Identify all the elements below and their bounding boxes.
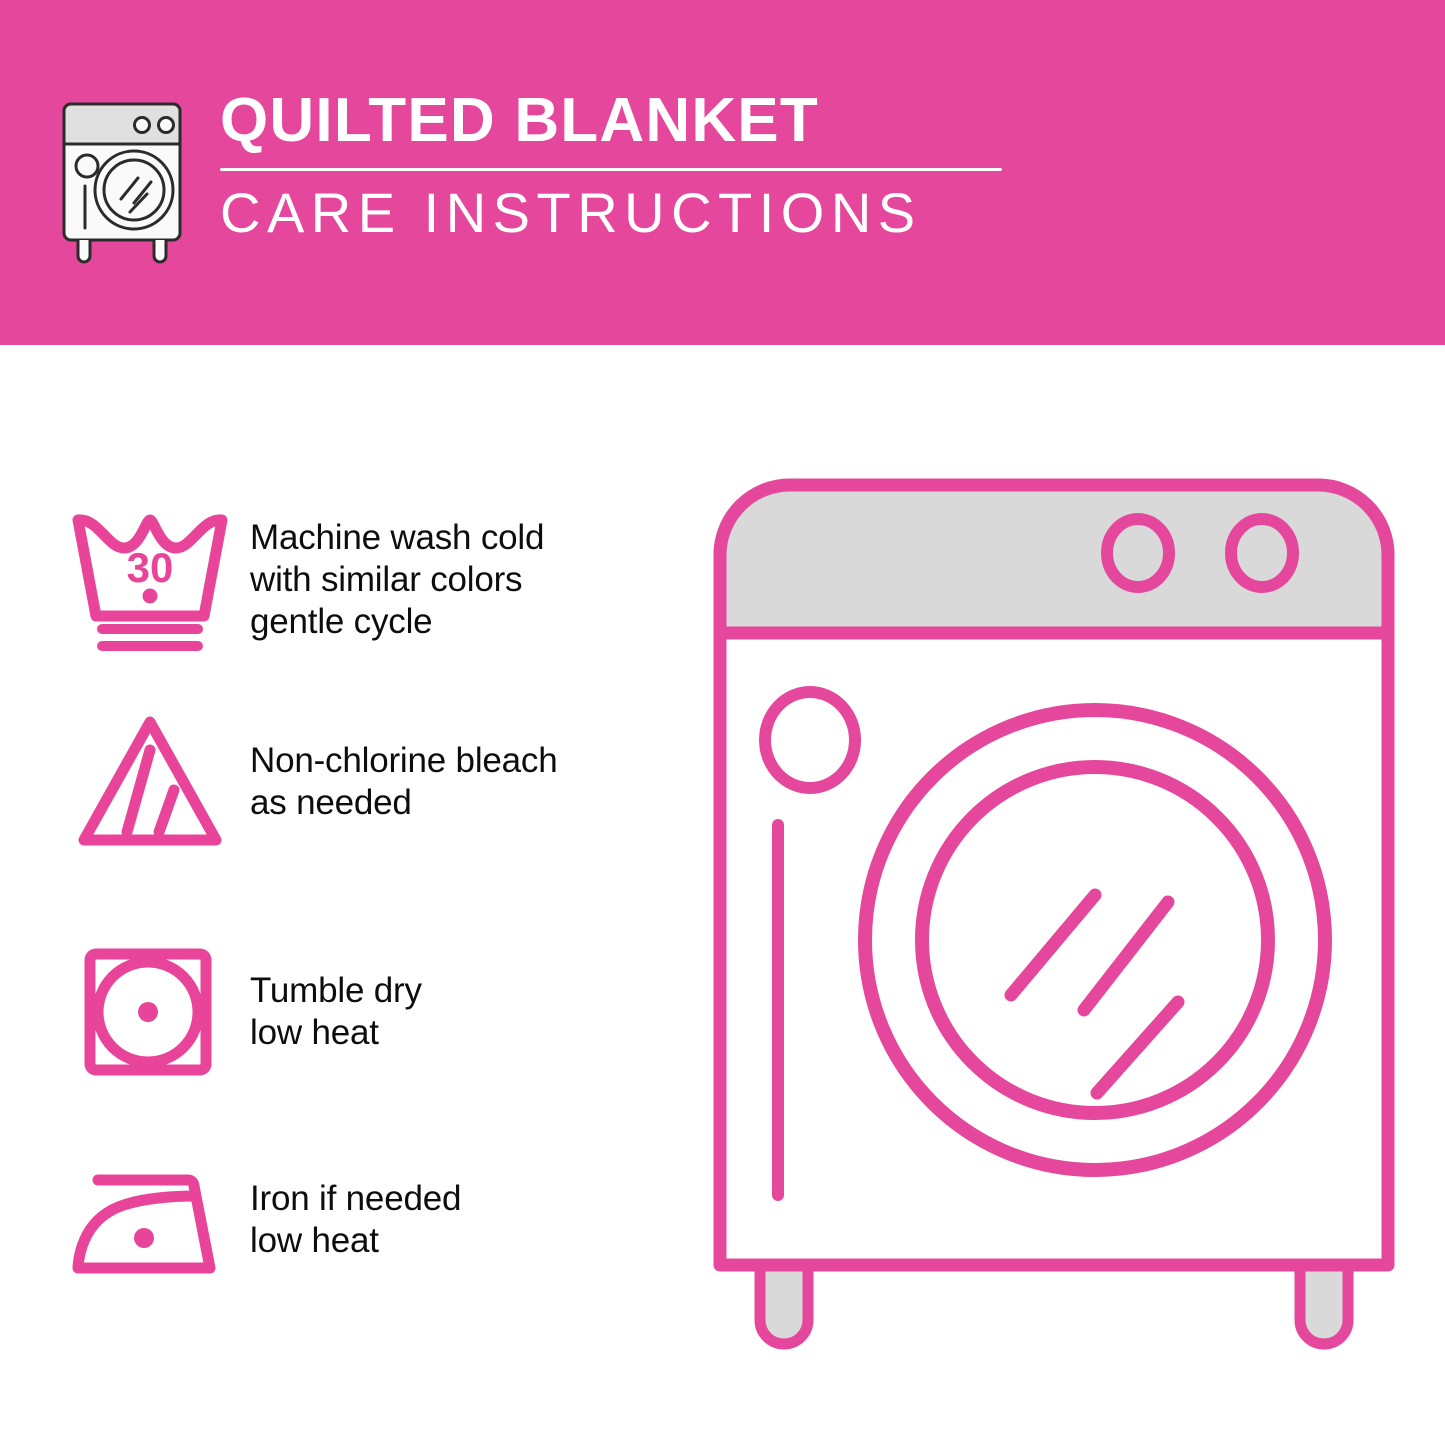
care-item-machine-wash: 30 Machine wash cold with similar colors… [60, 495, 680, 665]
care-line: with similar colors [250, 559, 680, 601]
header-title-block: QUILTED BLANKET CARE INSTRUCTIONS [220, 88, 1002, 243]
care-line: gentle cycle [250, 601, 680, 643]
care-item-tumble-dry-text: Tumble dry low heat [250, 970, 680, 1054]
tumble-dry-low-icon [60, 927, 240, 1097]
care-item-iron: Iron if needed low heat [60, 1135, 680, 1305]
care-item-bleach-text: Non-chlorine bleach as needed [250, 740, 680, 824]
care-line: low heat [250, 1220, 680, 1262]
care-item-tumble-dry: Tumble dry low heat [60, 927, 680, 1097]
header-banner: QUILTED BLANKET CARE INSTRUCTIONS [0, 0, 1445, 345]
care-line: as needed [250, 782, 680, 824]
care-line: Tumble dry [250, 970, 680, 1012]
care-item-iron-text: Iron if needed low heat [250, 1178, 680, 1262]
page-title: QUILTED BLANKET [220, 88, 1002, 154]
care-line: Non-chlorine bleach [250, 740, 680, 782]
washer-knob-2[interactable] [1231, 519, 1293, 587]
title-divider [220, 168, 1002, 171]
iron-low-heat-icon [60, 1135, 240, 1305]
page-subtitle: CARE INSTRUCTIONS [220, 183, 1002, 243]
washer-knob-1[interactable] [1107, 519, 1169, 587]
washer-indicator-light-icon [765, 692, 855, 788]
wash-temperature-label: 30 [127, 544, 174, 591]
care-item-bleach: Non-chlorine bleach as needed [60, 697, 680, 867]
front-load-washing-machine-illustration [700, 465, 1430, 1375]
care-line: Iron if needed [250, 1178, 680, 1220]
washing-machine-icon [58, 98, 198, 266]
care-instruction-list: 30 Machine wash cold with similar colors… [0, 345, 700, 1445]
care-line: Machine wash cold [250, 517, 680, 559]
wash-tub-30-icon: 30 [60, 495, 240, 665]
non-chlorine-bleach-triangle-icon [60, 697, 240, 867]
care-line: low heat [250, 1012, 680, 1054]
header-content: QUILTED BLANKET CARE INSTRUCTIONS [58, 88, 1002, 266]
care-item-machine-wash-text: Machine wash cold with similar colors ge… [250, 517, 680, 643]
